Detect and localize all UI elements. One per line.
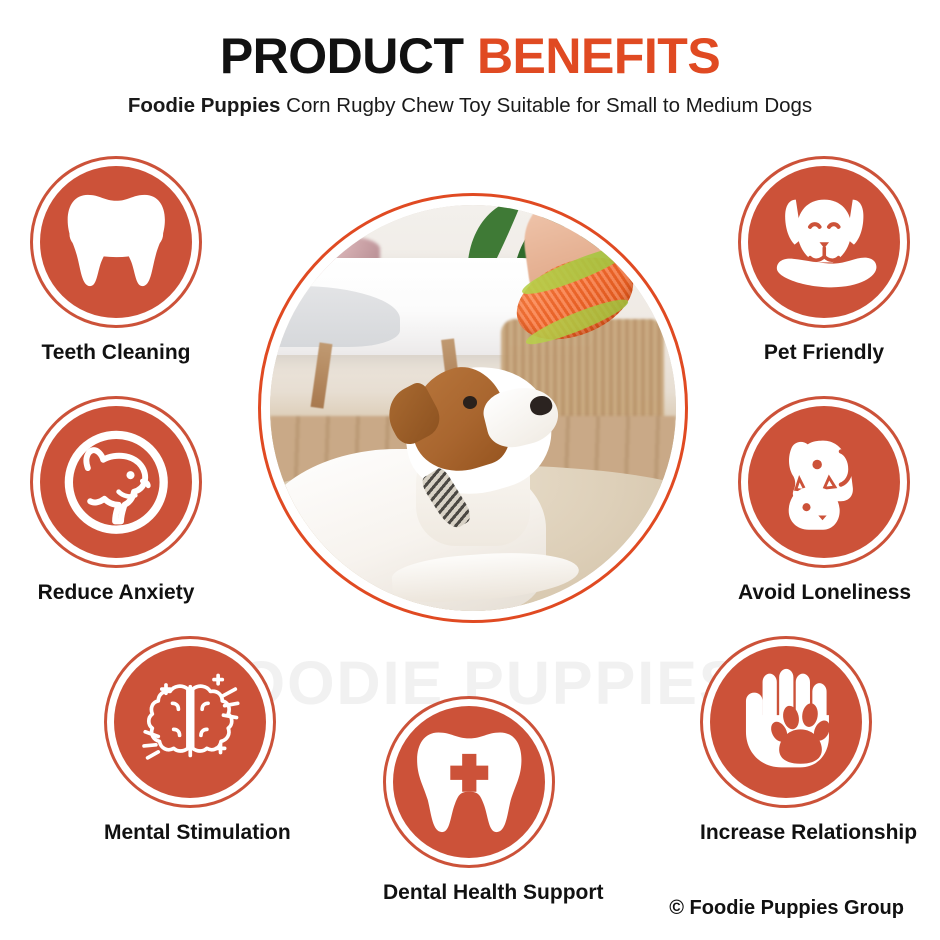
hand-paw-icon [727,663,846,782]
happy-dog-head-icon [57,423,176,542]
subtitle: Foodie Puppies Corn Rugby Chew Toy Suita… [0,94,940,119]
benefit-label: Mental Stimulation [104,821,276,845]
benefit-label: Reduce Anxiety [30,581,202,605]
benefit-item-mental-stimulation[interactable]: Mental Stimulation [104,636,276,845]
copyright-footer: © Foodie Puppies Group [669,897,904,920]
dog-on-hand-icon [765,183,884,302]
benefit-disc [40,406,192,558]
benefit-disc [748,166,900,318]
benefit-disc [114,646,266,798]
benefit-circle [700,636,872,808]
tooth-cross-icon [410,723,529,842]
benefit-disc [393,706,545,858]
benefit-disc [40,166,192,318]
benefit-item-increase-relationship[interactable]: Increase Relationship [700,636,872,845]
subtitle-description: Corn Rugby Chew Toy Suitable for Small t… [280,94,812,117]
tooth-sparkle-icon [57,183,176,302]
benefit-circle [30,156,202,328]
benefit-circle [383,696,555,868]
benefit-item-avoid-loneliness[interactable]: Avoid Loneliness [738,396,910,605]
photo-scene [270,205,676,611]
benefit-circle [30,396,202,568]
header: PRODUCT BENEFITS Foodie Puppies Corn Rug… [0,30,940,118]
benefit-disc [710,646,862,798]
benefit-item-pet-friendly[interactable]: Pet Friendly [738,156,910,365]
product-benefits-infographic: PRODUCT BENEFITS Foodie Puppies Corn Rug… [0,0,940,940]
benefit-item-reduce-anxiety[interactable]: Reduce Anxiety [30,396,202,605]
benefit-circle [104,636,276,808]
center-product-photo [258,193,688,623]
benefit-label: Avoid Loneliness [738,581,910,605]
page-title: PRODUCT BENEFITS [0,30,940,83]
brain-icon [131,663,250,782]
dog-eye [463,396,478,409]
benefit-item-teeth-cleaning[interactable]: Teeth Cleaning [30,156,202,365]
subtitle-brand: Foodie Puppies [128,94,281,117]
title-part-product: PRODUCT [220,28,464,84]
benefit-disc [748,406,900,558]
dog-and-cat-icon [765,423,884,542]
benefit-label: Increase Relationship [700,821,872,845]
benefit-circle [738,396,910,568]
benefit-label: Dental Health Support [383,881,555,905]
benefit-label: Pet Friendly [738,341,910,365]
benefit-circle [738,156,910,328]
benefit-item-dental-health-support[interactable]: Dental Health Support [383,696,555,905]
benefit-label: Teeth Cleaning [30,341,202,365]
title-part-benefits: BENEFITS [477,28,720,84]
